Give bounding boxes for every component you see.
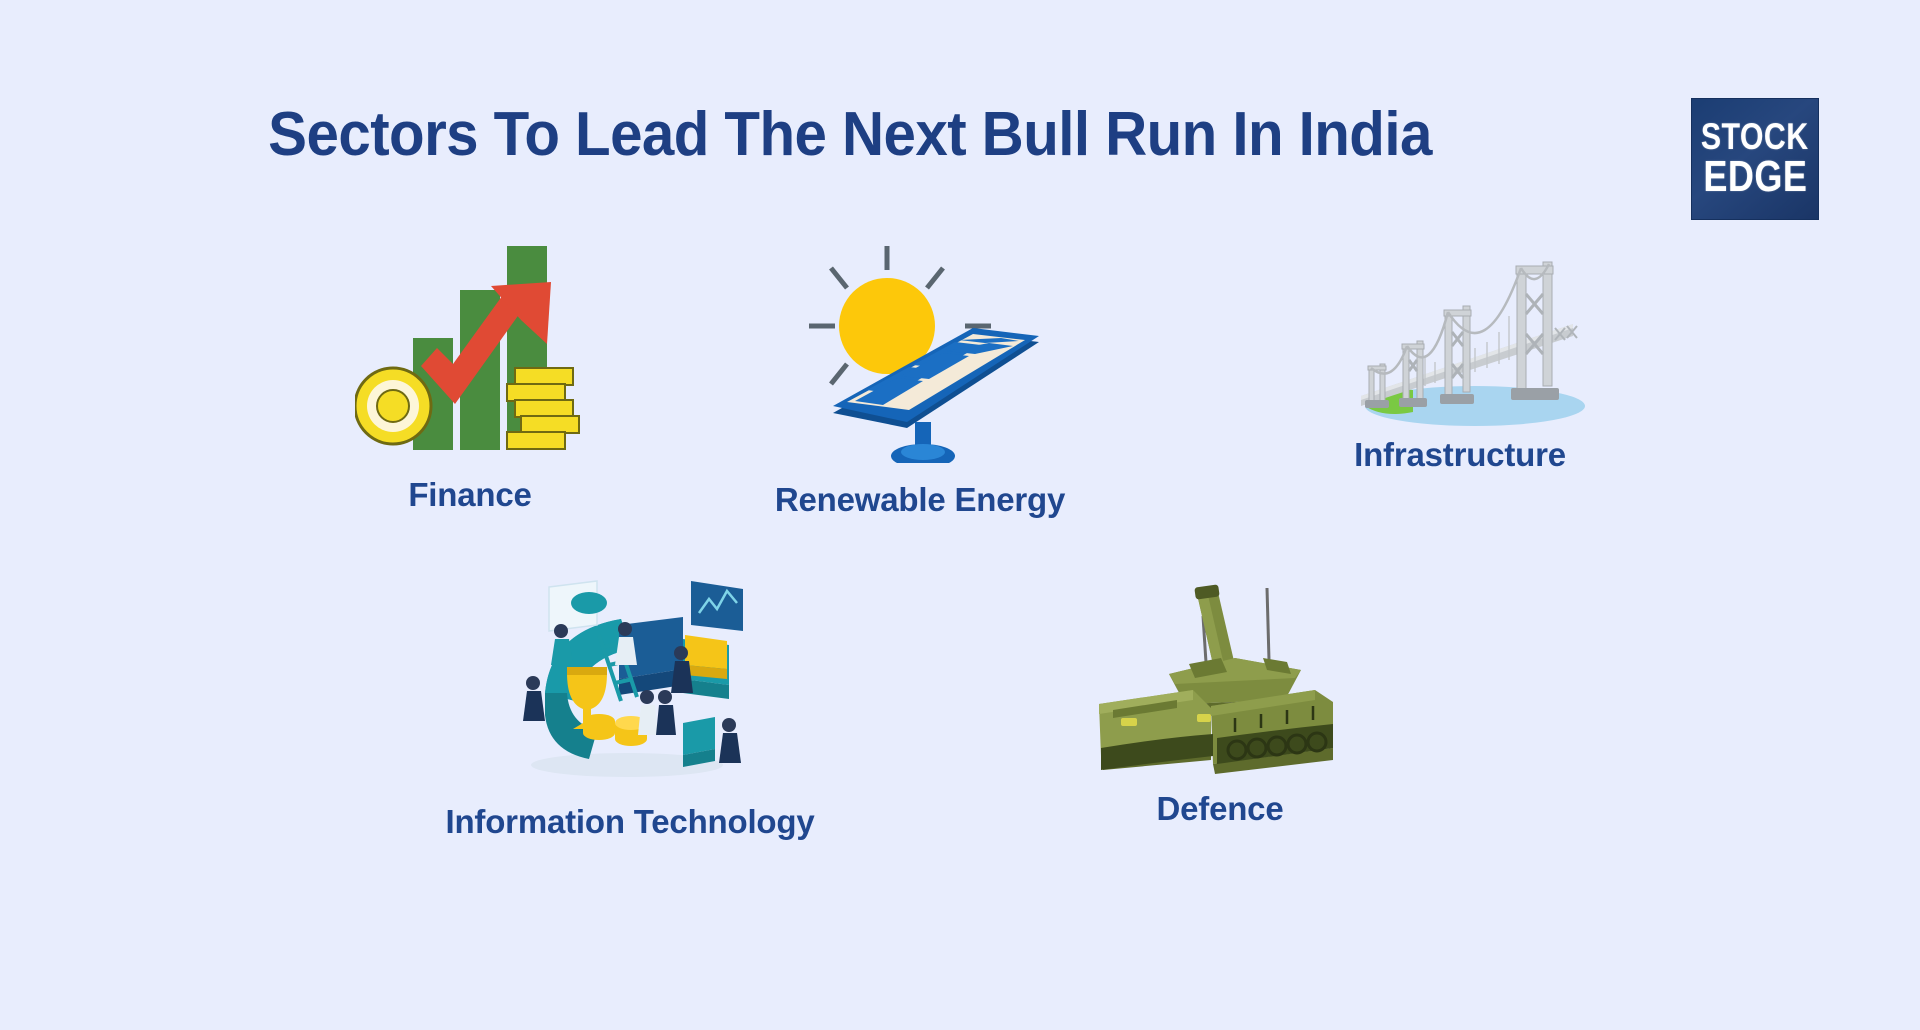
sector-label-finance: Finance xyxy=(408,476,531,514)
logo-line-edge: EDGE xyxy=(1703,155,1807,200)
sector-card-finance[interactable]: Finance xyxy=(270,228,670,514)
sector-card-renewable-energy[interactable]: Renewable Energy xyxy=(690,238,1150,519)
stockedge-logo: STOCK EDGE xyxy=(1691,98,1819,220)
isometric-teamwork-technology-icon xyxy=(515,573,745,783)
sector-card-information-technology[interactable]: Information Technology xyxy=(350,573,910,841)
sector-label-renewable-energy: Renewable Energy xyxy=(775,481,1065,519)
sector-label-information-technology: Information Technology xyxy=(446,803,815,841)
page-title: Sectors To Lead The Next Bull Run In Ind… xyxy=(51,104,1649,166)
sector-label-defence: Defence xyxy=(1157,790,1284,828)
military-tank-icon xyxy=(1085,578,1355,778)
suspension-bridge-icon xyxy=(1335,248,1585,428)
sector-card-defence[interactable]: Defence xyxy=(1000,578,1440,828)
finance-growth-chart-icon xyxy=(355,228,585,458)
sector-label-infrastructure: Infrastructure xyxy=(1354,436,1566,474)
sector-grid: Finance xyxy=(0,228,1920,968)
sector-card-infrastructure[interactable]: Infrastructure xyxy=(1250,248,1670,474)
header: Sectors To Lead The Next Bull Run In Ind… xyxy=(0,0,1920,230)
solar-panel-sun-icon xyxy=(795,238,1045,463)
logo-line-stock: STOCK xyxy=(1701,118,1809,156)
